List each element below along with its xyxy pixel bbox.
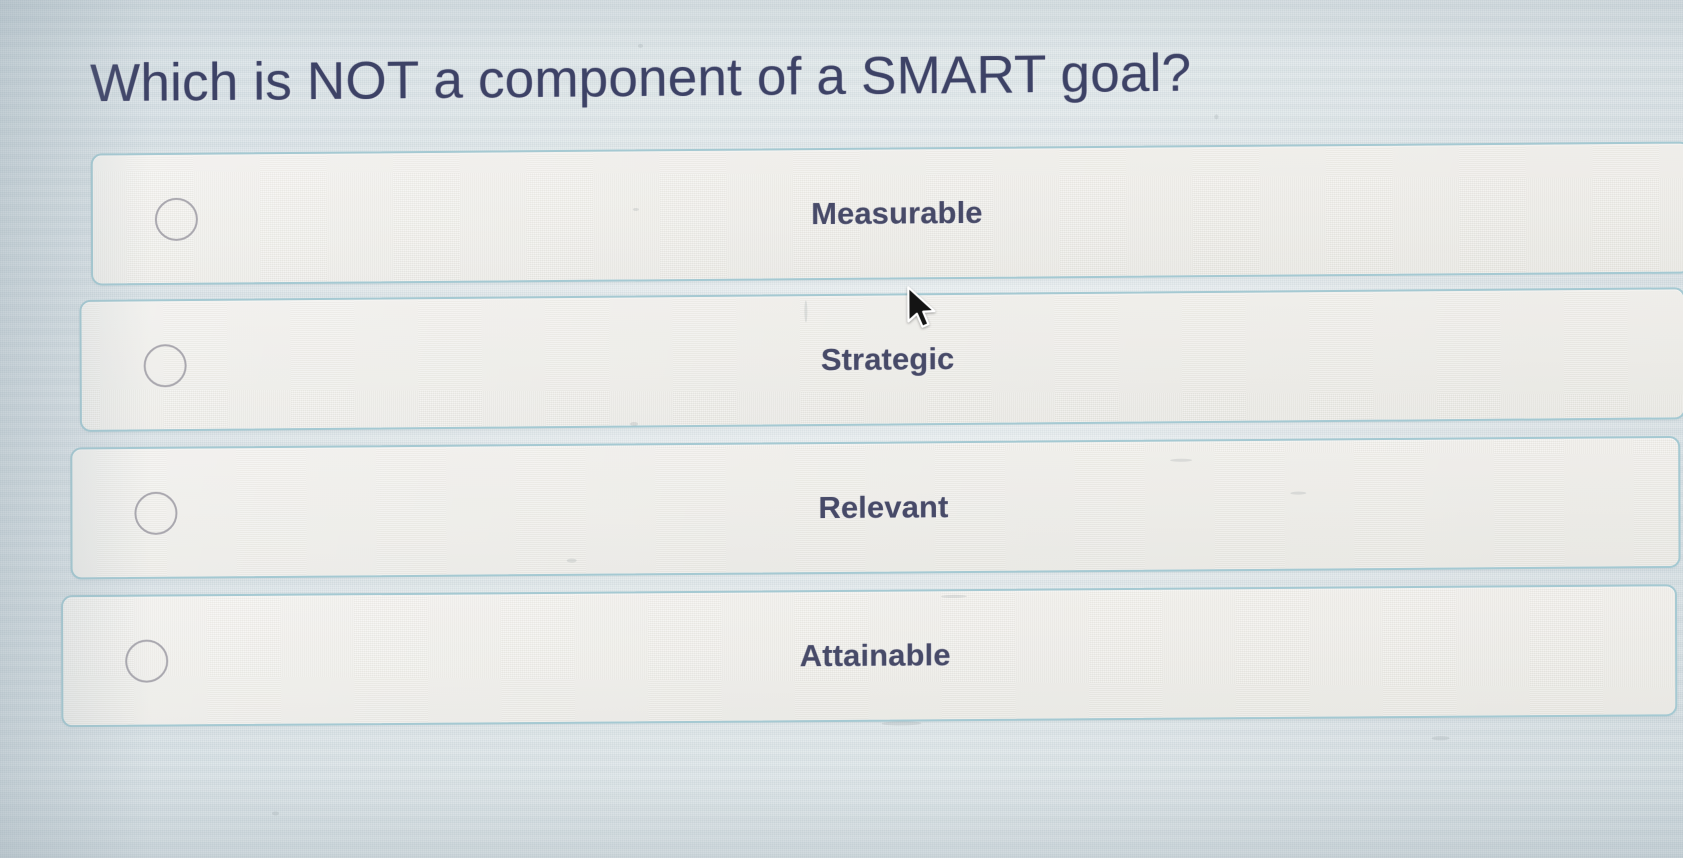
answer-option-label: Attainable	[63, 632, 1675, 679]
dust-speck	[1214, 114, 1218, 119]
answer-option-measurable[interactable]: Measurable	[91, 142, 1683, 286]
answer-option-label: Measurable	[93, 190, 1683, 238]
dust-speck	[1432, 736, 1450, 740]
answer-option-relevant[interactable]: Relevant	[70, 436, 1680, 580]
answer-option-attainable[interactable]: Attainable	[61, 584, 1677, 727]
dust-speck	[272, 811, 279, 815]
screen-photo-backdrop: Which is NOT a component of a SMART goal…	[0, 0, 1683, 858]
page-title: Which is NOT a component of a SMART goal…	[90, 40, 1510, 115]
answer-option-label: Strategic	[82, 335, 1683, 384]
answer-option-label: Relevant	[72, 484, 1678, 531]
answer-option-strategic[interactable]: Strategic	[79, 287, 1683, 432]
answer-options-list: Measurable Strategic Relevant Attainable	[0, 140, 1683, 740]
quiz-page: Which is NOT a component of a SMART goal…	[0, 0, 1683, 858]
